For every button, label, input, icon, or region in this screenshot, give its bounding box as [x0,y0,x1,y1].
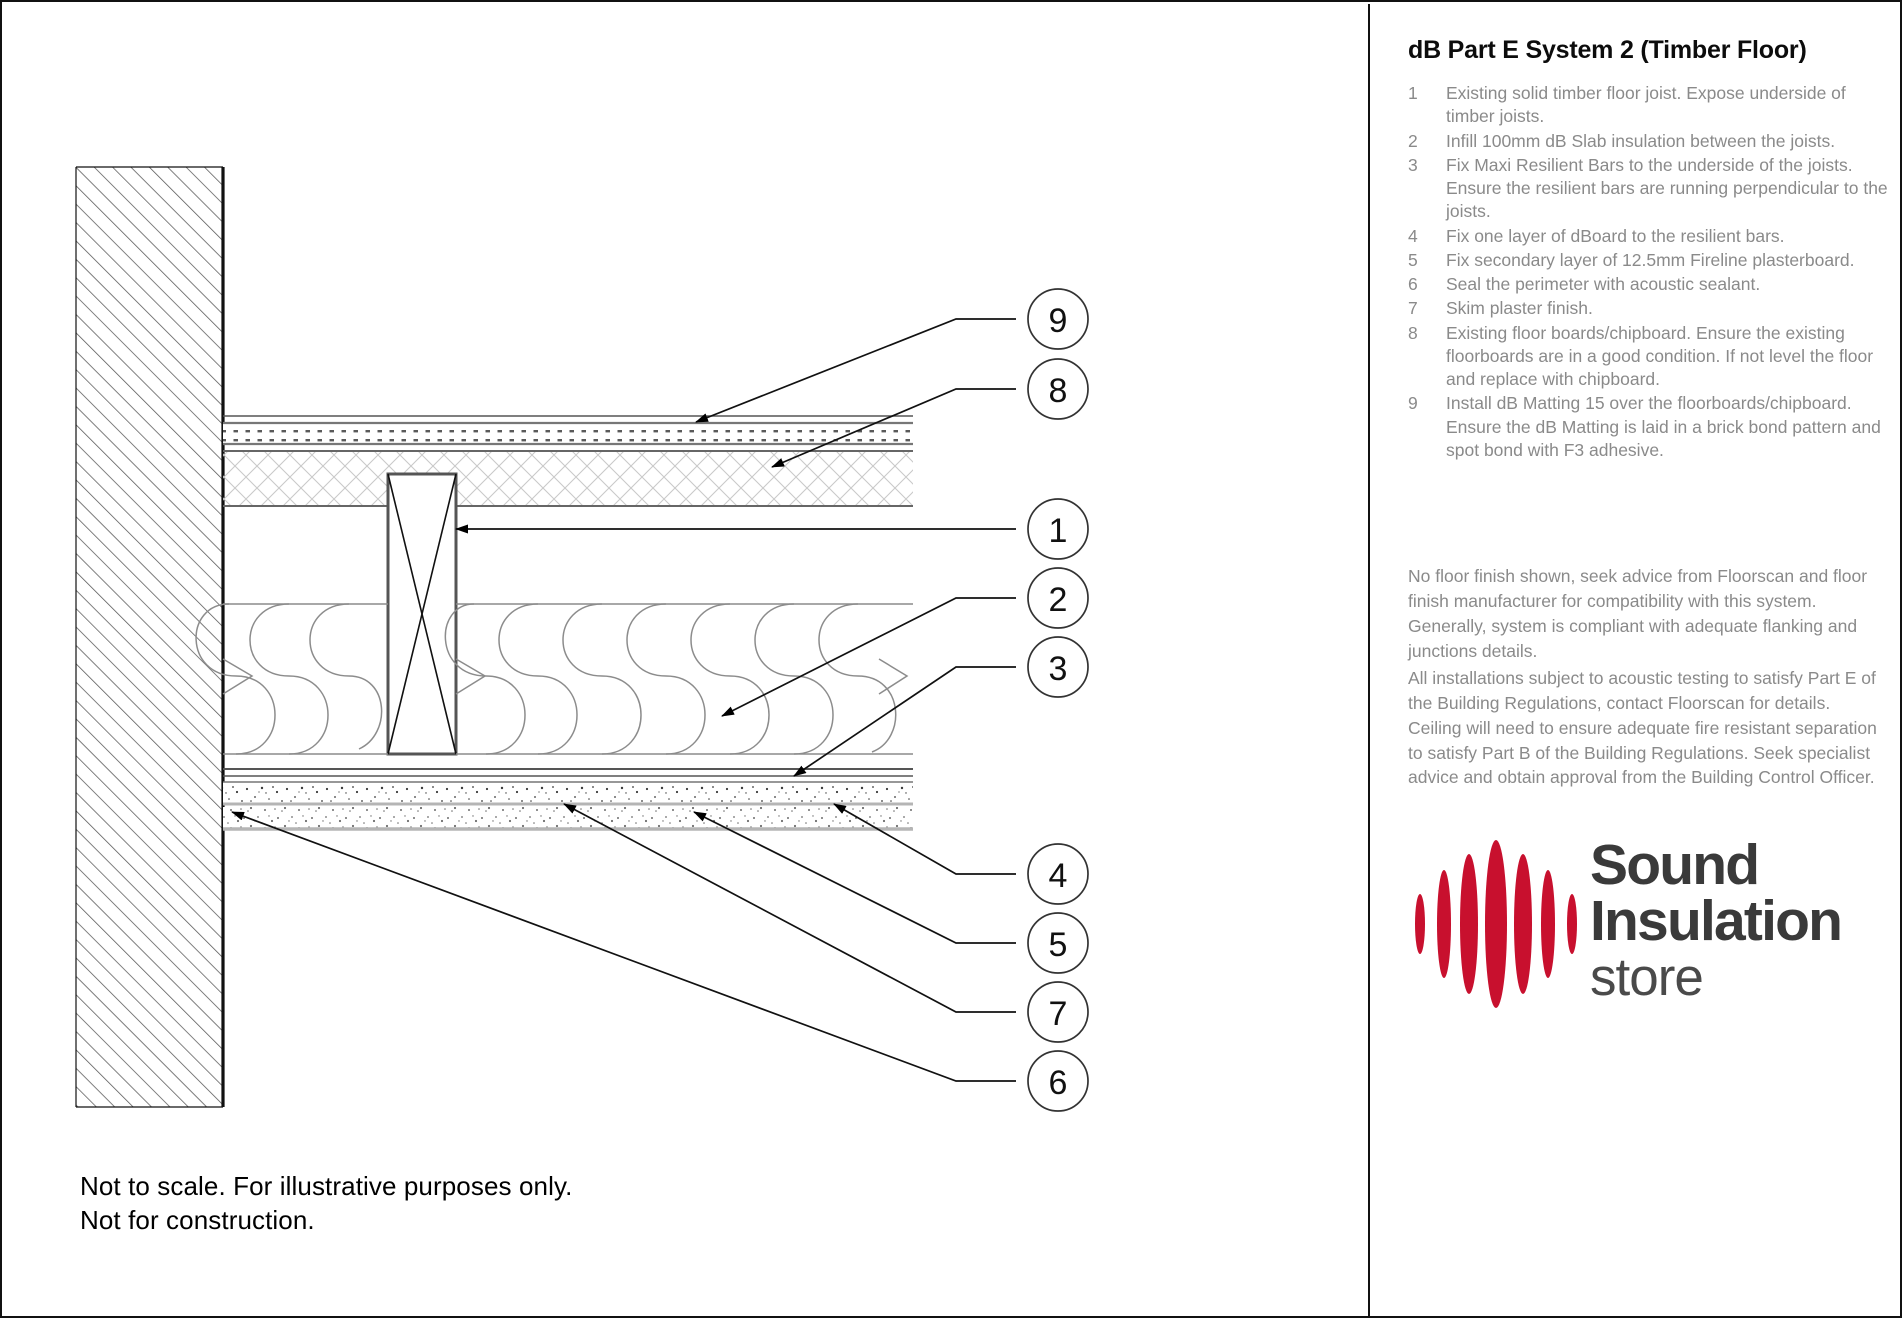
note-number: 6 [1408,273,1446,296]
note-number: 5 [1408,249,1446,272]
note-text: Seal the perimeter with acoustic sealant… [1446,273,1888,296]
note-item: 2 Infill 100mm dB Slab insulation betwee… [1408,130,1888,153]
callout-8[interactable]: 8 [1028,359,1088,419]
note-item: 3 Fix Maxi Resilient Bars to the undersi… [1408,154,1888,224]
note-text: Infill 100mm dB Slab insulation between … [1446,130,1888,153]
technical-drawing: 9 8 1 2 3 [4,4,1368,1318]
callout-2-label: 2 [1049,581,1068,619]
callout-bubbles: 9 8 1 2 3 [1028,289,1088,1111]
notes-list: 1 Existing solid timber floor joist. Exp… [1408,82,1888,463]
note-number: 8 [1408,322,1446,345]
callout-8-label: 8 [1049,372,1068,410]
disclaimer-paragraph-1: No floor finish shown, seek advice from … [1408,564,1883,663]
drawing-caption: Not to scale. For illustrative purposes … [80,1169,572,1238]
callout-1-label: 1 [1049,512,1068,550]
soundwave-icon [1412,834,1592,1014]
note-text: Existing floor boards/chipboard. Ensure … [1446,322,1888,392]
callout-9[interactable]: 9 [1028,289,1088,349]
callout-1[interactable]: 1 [1028,499,1088,559]
note-text: Fix Maxi Resilient Bars to the underside… [1446,154,1888,224]
masonry-wall [76,167,223,1107]
panel-title: dB Part E System 2 (Timber Floor) [1408,36,1878,65]
note-item: 9 Install dB Matting 15 over the floorbo… [1408,392,1888,462]
callout-4[interactable]: 4 [1028,844,1088,904]
notes-panel: dB Part E System 2 (Timber Floor) 1 Exis… [1384,4,1896,1318]
note-item: 8 Existing floor boards/chipboard. Ensur… [1408,322,1888,392]
callout-5-label: 5 [1049,926,1068,964]
note-text: Skim plaster finish. [1446,297,1888,320]
callout-5[interactable]: 5 [1028,913,1088,973]
note-number: 4 [1408,225,1446,248]
panel-divider [1368,4,1370,1318]
note-number: 3 [1408,154,1446,177]
callout-6-label: 6 [1049,1064,1068,1102]
db-slab-insulation [196,604,913,754]
logo-line-sound: Sound [1590,838,1841,894]
callout-7-label: 7 [1049,995,1068,1033]
callout-9-label: 9 [1049,302,1068,340]
note-number: 7 [1408,297,1446,320]
logo-line-store: store [1590,952,1841,1004]
note-item: 7 Skim plaster finish. [1408,297,1888,320]
callout-4-label: 4 [1049,857,1068,895]
disclaimer-paragraph-2: All installations subject to acoustic te… [1408,666,1883,790]
note-text: Fix one layer of dBoard to the resilient… [1446,225,1888,248]
note-text: Install dB Matting 15 over the floorboar… [1446,392,1888,462]
callout-6[interactable]: 6 [1028,1051,1088,1111]
timber-joist [388,474,456,754]
maxi-resilient-bars [223,769,913,776]
note-item: 1 Existing solid timber floor joist. Exp… [1408,82,1888,129]
callout-2[interactable]: 2 [1028,568,1088,628]
logo-wordmark: Sound Insulation store [1590,838,1841,1004]
note-text: Fix secondary layer of 12.5mm Fireline p… [1446,249,1888,272]
sound-insulation-store-logo: Sound Insulation store [1412,834,1882,1014]
floorboards-layer [223,451,913,506]
logo-line-insulation: Insulation [1590,894,1841,950]
note-item: 6 Seal the perimeter with acoustic seala… [1408,273,1888,296]
drawing-sheet: 9 8 1 2 3 [0,0,1902,1318]
note-number: 1 [1408,82,1446,105]
callout-3-label: 3 [1049,650,1068,688]
note-item: 5 Fix secondary layer of 12.5mm Fireline… [1408,249,1888,272]
fireline-plasterboard-layer [223,807,913,829]
dboard-layer [223,782,913,804]
db-matting-layer [223,416,913,444]
note-number: 9 [1408,392,1446,415]
callout-7[interactable]: 7 [1028,982,1088,1042]
callout-3[interactable]: 3 [1028,637,1088,697]
note-item: 4 Fix one layer of dBoard to the resilie… [1408,225,1888,248]
note-number: 2 [1408,130,1446,153]
note-text: Existing solid timber floor joist. Expos… [1446,82,1888,129]
